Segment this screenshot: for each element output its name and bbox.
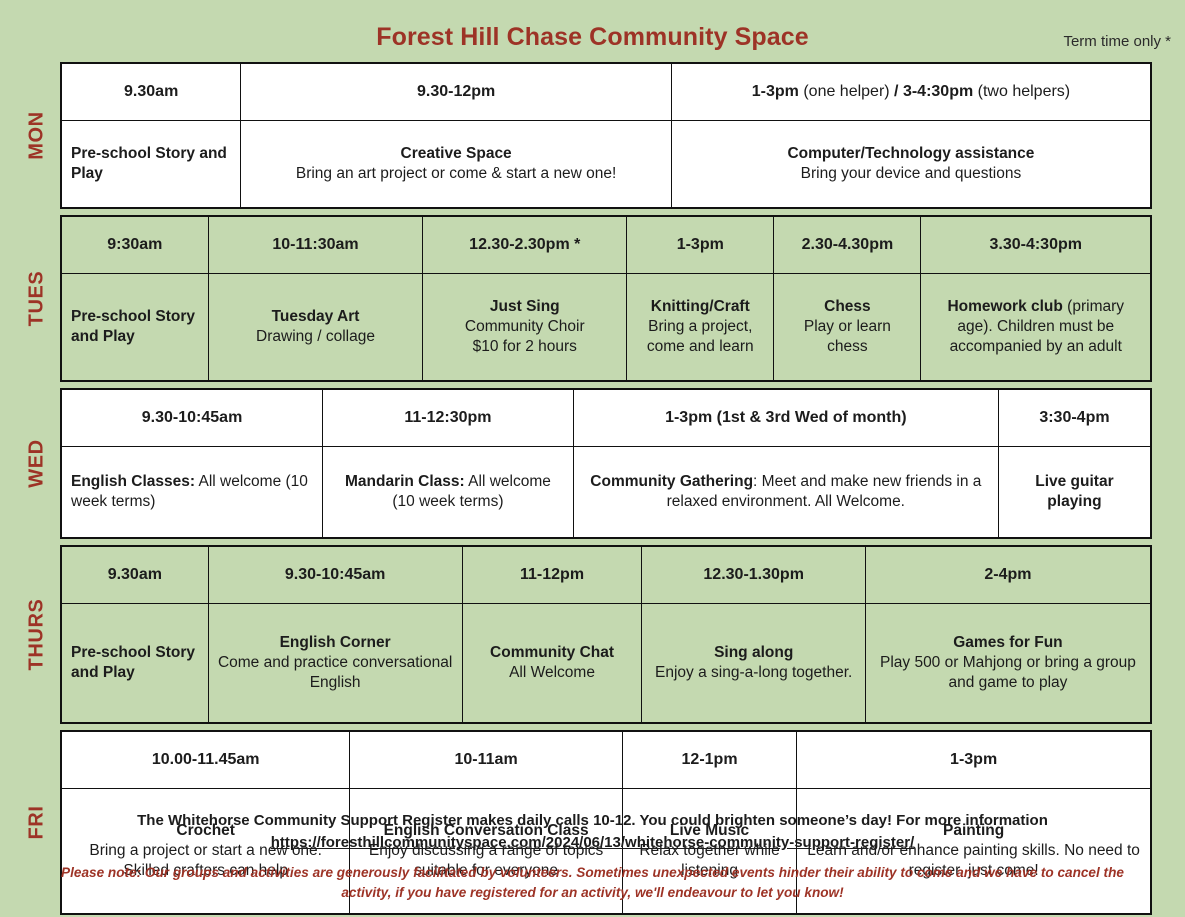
activity-title: Community Gathering	[590, 473, 753, 490]
day-label-cell-wed: WED	[14, 388, 60, 539]
day-table-wed: 9.30-10:45am11-12:30pm1-3pm (1st & 3rd W…	[60, 388, 1152, 539]
day-label: WED	[26, 439, 49, 487]
day-table-thurs: 9.30am9.30-10:45am11-12pm12.30-1.30pm2-4…	[60, 545, 1152, 724]
time-slot-cell: 1-3pm	[627, 216, 774, 274]
time-slot-cell: 9.30am	[61, 63, 241, 121]
activity-title: Just Sing	[432, 297, 617, 317]
day-row-thurs: THURS9.30am9.30-10:45am11-12pm12.30-1.30…	[14, 545, 1152, 724]
day-row-tues: TUES9:30am10-11:30am12.30-2.30pm *1-3pm2…	[14, 215, 1152, 382]
time-slot-cell: 9.30-10:45am	[61, 389, 323, 447]
time-slot-note-2: (two helpers)	[973, 83, 1070, 100]
time-slot-cell: 3:30-4pm	[998, 389, 1151, 447]
time-slot-cell: 10-11am	[350, 731, 623, 789]
activity-cell[interactable]: Games for FunPlay 500 or Mahjong or brin…	[865, 604, 1151, 724]
page-title: Forest Hill Chase Community Space	[0, 23, 1185, 52]
time-slot-cell: 3.30-4:30pm	[921, 216, 1151, 274]
day-label: TUES	[26, 271, 49, 327]
activity-title: Creative Space	[250, 144, 662, 164]
time-header-row: 10.00-11.45am10-11am12-1pm1-3pm	[61, 731, 1151, 789]
time-slot-cell: 9.30-10:45am	[208, 546, 462, 604]
activity-title: Pre-school Story and Play	[71, 307, 199, 346]
activity-description: All Welcome	[472, 663, 633, 683]
time-header-row: 9:30am10-11:30am12.30-2.30pm *1-3pm2.30-…	[61, 216, 1151, 274]
activity-description: Play 500 or Mahjong or bring a group and…	[875, 653, 1141, 692]
activity-title: Computer/Technology assistance	[681, 144, 1141, 164]
activity-cell[interactable]: Community ChatAll Welcome	[462, 604, 642, 724]
time-slot-primary-2: / 3-4:30pm	[890, 83, 974, 100]
activity-cell[interactable]: Creative SpaceBring an art project or co…	[241, 121, 672, 209]
page-header: Forest Hill Chase Community Space Term t…	[0, 0, 1185, 62]
activity-title: Mandarin Class:	[345, 473, 465, 490]
activity-row: English Classes: All welcome (10 week te…	[61, 447, 1151, 539]
activity-row: Pre-school Story and PlayEnglish CornerC…	[61, 604, 1151, 724]
activity-title: Pre-school Story and Play	[71, 643, 199, 682]
activity-cell[interactable]: Pre-school Story and Play	[61, 274, 208, 382]
time-header-row: 9.30-10:45am11-12:30pm1-3pm (1st & 3rd W…	[61, 389, 1151, 447]
activity-cell[interactable]: English CornerCome and practice conversa…	[208, 604, 462, 724]
term-time-note: Term time only *	[1063, 33, 1171, 50]
time-slot-cell: 9.30am	[61, 546, 208, 604]
day-label: THURS	[26, 599, 49, 671]
activity-cell[interactable]: Pre-school Story and Play	[61, 121, 241, 209]
activity-description: Enjoy a sing-a-long together.	[651, 663, 855, 683]
time-slot-cell: 1-3pm (1st & 3rd Wed of month)	[573, 389, 998, 447]
activity-cell[interactable]: Sing alongEnjoy a sing-a-long together.	[642, 604, 865, 724]
activity-description: Come and practice conversational English	[218, 653, 453, 692]
activity-description: $10 for 2 hours	[432, 337, 617, 357]
time-slot-cell: 1-3pm (one helper) / 3-4:30pm (two helpe…	[671, 63, 1151, 121]
time-slot-cell: 12.30-1.30pm	[642, 546, 865, 604]
activity-row: Pre-school Story and PlayCreative SpaceB…	[61, 121, 1151, 209]
timetable-grid: MON9.30am9.30-12pm1-3pm (one helper) / 3…	[14, 62, 1152, 915]
day-label: MON	[26, 111, 49, 159]
activity-cell[interactable]: Homework club (primary age). Children mu…	[921, 274, 1151, 382]
activity-row: Pre-school Story and PlayTuesday ArtDraw…	[61, 274, 1151, 382]
activity-description: Bring a project, come and learn	[636, 317, 764, 356]
activity-cell[interactable]: Live guitar playing	[998, 447, 1151, 539]
activity-title: English Corner	[218, 633, 453, 653]
activity-title: English Classes:	[71, 473, 195, 490]
activity-title: Community Chat	[472, 643, 633, 663]
time-slot-cell: 11-12pm	[462, 546, 642, 604]
activity-description: Bring your device and questions	[681, 164, 1141, 184]
time-header-row: 9.30am9.30-10:45am11-12pm12.30-1.30pm2-4…	[61, 546, 1151, 604]
time-slot-cell: 12-1pm	[622, 731, 796, 789]
time-slot-note: (one helper)	[799, 83, 890, 100]
timetable-page: Forest Hill Chase Community Space Term t…	[0, 0, 1185, 917]
activity-cell[interactable]: Community Gathering: Meet and make new f…	[573, 447, 998, 539]
activity-title: Pre-school Story and Play	[71, 144, 231, 183]
activity-cell[interactable]: Tuesday ArtDrawing / collage	[208, 274, 423, 382]
time-slot-primary: 1-3pm	[752, 83, 799, 100]
activity-description: Bring an art project or come & start a n…	[250, 164, 662, 184]
time-slot-cell: 9.30-12pm	[241, 63, 672, 121]
activity-title: Tuesday Art	[218, 307, 414, 327]
support-register-text: The Whitehorse Community Support Registe…	[14, 810, 1171, 832]
activity-title: Live guitar playing	[1008, 472, 1141, 511]
day-label-cell-thurs: THURS	[14, 545, 60, 724]
activity-title: Sing along	[651, 643, 855, 663]
day-table-mon: 9.30am9.30-12pm1-3pm (one helper) / 3-4:…	[60, 62, 1152, 209]
activity-cell[interactable]: Pre-school Story and Play	[61, 604, 208, 724]
support-register-link[interactable]: https://foresthillcommunityspace.com/202…	[14, 832, 1171, 855]
time-slot-cell: 12.30-2.30pm *	[423, 216, 627, 274]
day-label-cell-mon: MON	[14, 62, 60, 209]
day-table-tues: 9:30am10-11:30am12.30-2.30pm *1-3pm2.30-…	[60, 215, 1152, 382]
volunteer-disclaimer: Please note: Our groups and activities a…	[14, 863, 1171, 902]
activity-cell[interactable]: Knitting/CraftBring a project, come and …	[627, 274, 774, 382]
time-slot-cell: 2-4pm	[865, 546, 1151, 604]
activity-cell[interactable]: ChessPlay or learn chess	[774, 274, 921, 382]
day-row-mon: MON9.30am9.30-12pm1-3pm (one helper) / 3…	[14, 62, 1152, 209]
activity-cell[interactable]: English Classes: All welcome (10 week te…	[61, 447, 323, 539]
activity-description: Play or learn chess	[783, 317, 911, 356]
time-slot-cell: 2.30-4.30pm	[774, 216, 921, 274]
page-footer: The Whitehorse Community Support Registe…	[14, 810, 1171, 902]
time-slot-cell: 9:30am	[61, 216, 208, 274]
activity-title: Knitting/Craft	[636, 297, 764, 317]
activity-cell[interactable]: Mandarin Class: All welcome (10 week ter…	[323, 447, 574, 539]
time-slot-cell: 10.00-11.45am	[61, 731, 350, 789]
time-header-row: 9.30am9.30-12pm1-3pm (one helper) / 3-4:…	[61, 63, 1151, 121]
activity-description: Drawing / collage	[218, 327, 414, 347]
day-label-cell-tues: TUES	[14, 215, 60, 382]
activity-cell[interactable]: Just SingCommunity Choir$10 for 2 hours	[423, 274, 627, 382]
activity-cell[interactable]: Computer/Technology assistanceBring your…	[671, 121, 1151, 209]
day-row-wed: WED9.30-10:45am11-12:30pm1-3pm (1st & 3r…	[14, 388, 1152, 539]
time-slot-cell: 10-11:30am	[208, 216, 423, 274]
activity-title: Chess	[783, 297, 911, 317]
time-slot-cell: 1-3pm	[797, 731, 1151, 789]
activity-description: Community Choir	[432, 317, 617, 337]
time-slot-cell: 11-12:30pm	[323, 389, 574, 447]
activity-title: Homework club	[947, 298, 1062, 315]
activity-title: Games for Fun	[875, 633, 1141, 653]
